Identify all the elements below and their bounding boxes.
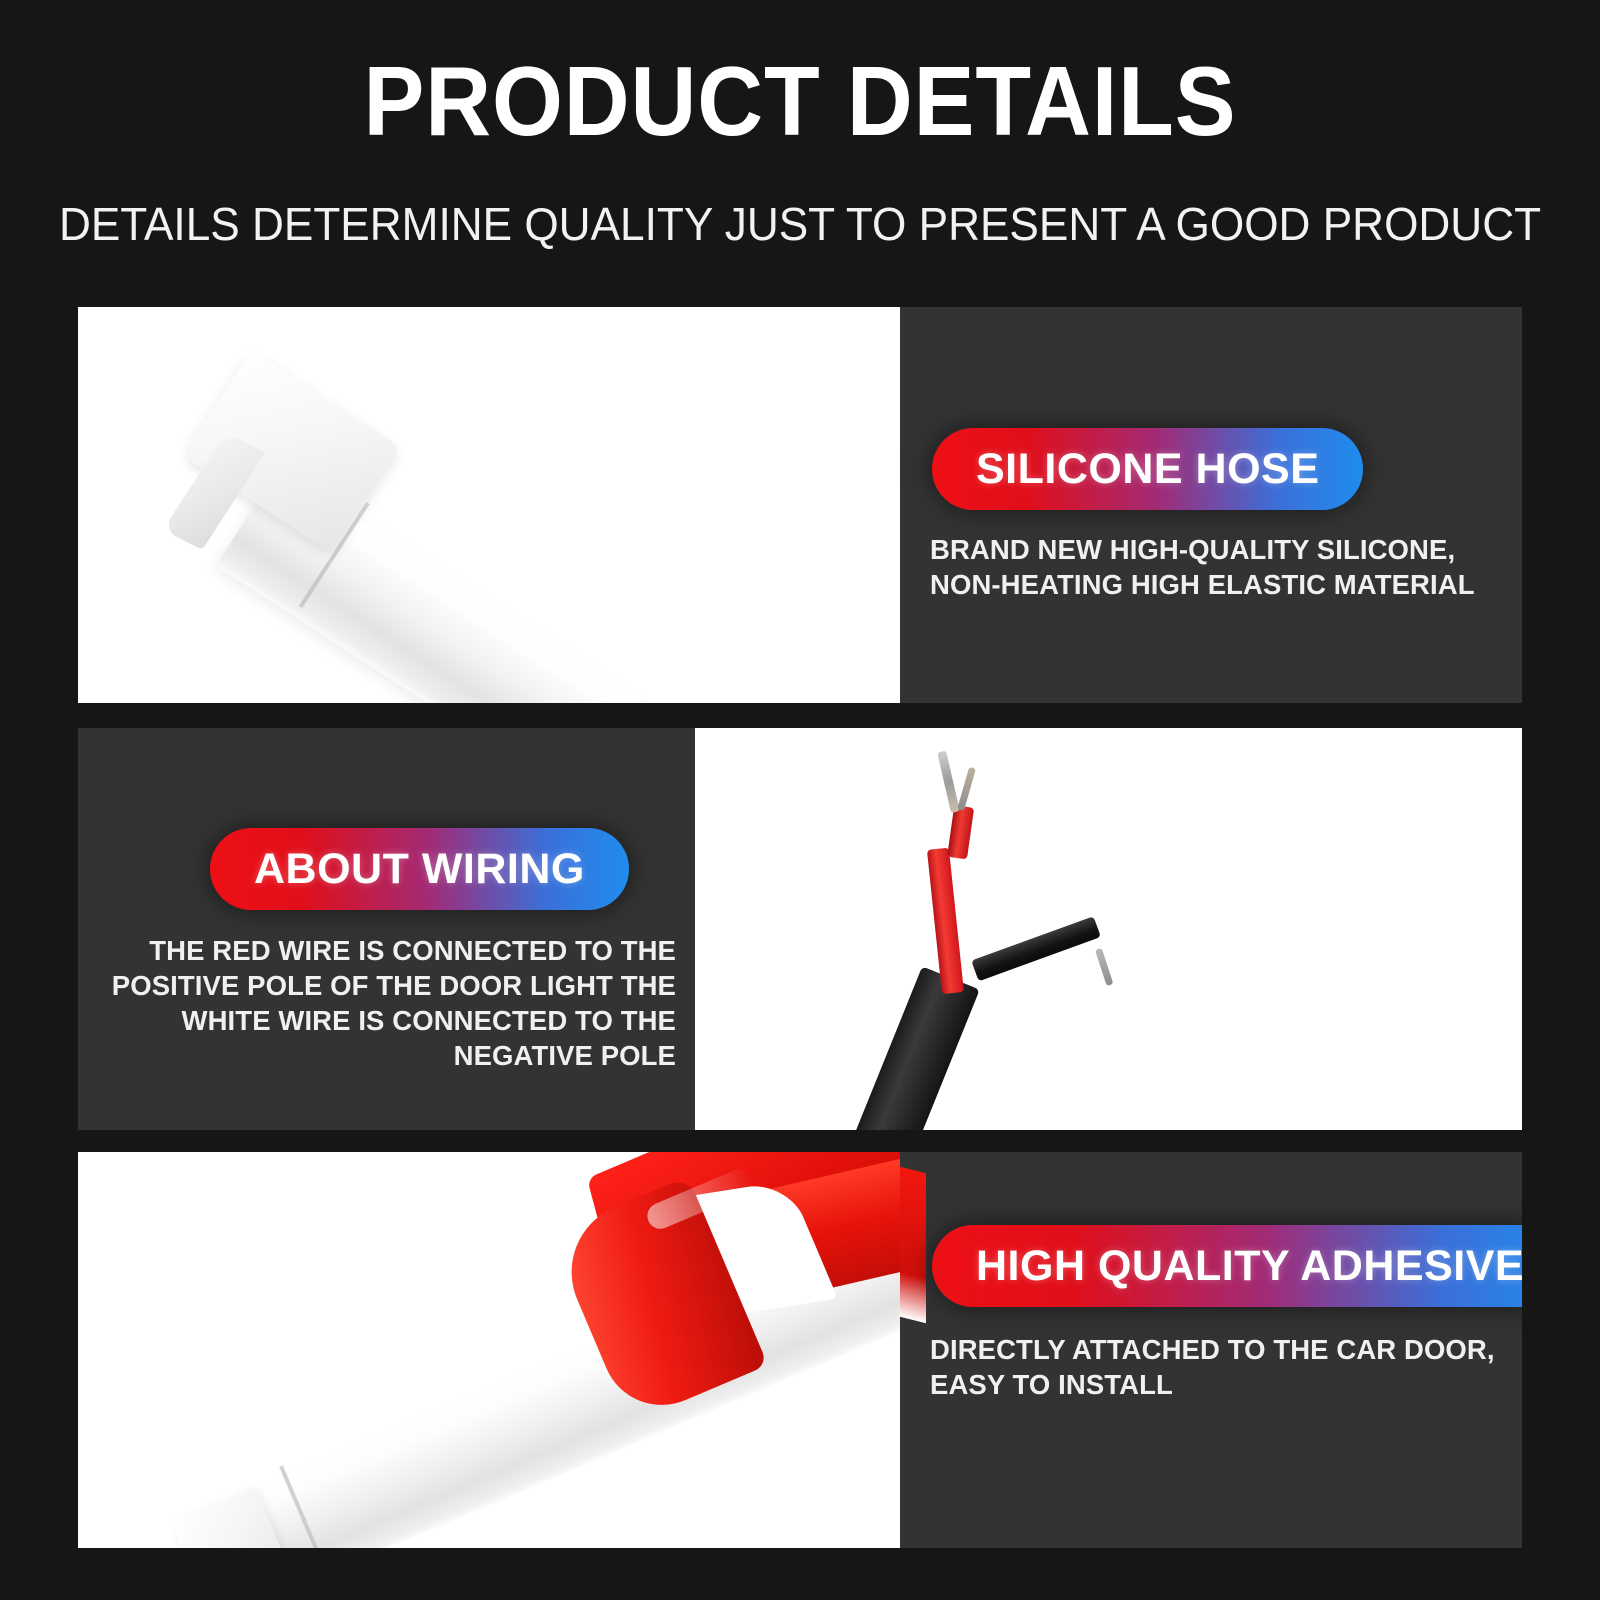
feature-text-high-quality-adhesive: HIGH QUALITY ADHESIVE DIRECTLY ATTACHED … <box>900 1152 1522 1548</box>
silicone-hose-illustration <box>78 307 900 703</box>
badge-label: HIGH QUALITY ADHESIVE <box>976 1225 1522 1307</box>
badge-label: SILICONE HOSE <box>976 428 1319 510</box>
product-details-page: PRODUCT DETAILS DETAILS DETERMINE QUALIT… <box>0 0 1600 1600</box>
feature-panel-about-wiring: ABOUT WIRING THE RED WIRE IS CONNECTED T… <box>78 728 1522 1130</box>
wire-red-upper-shape <box>947 805 974 859</box>
badge-silicone-hose: SILICONE HOSE <box>932 428 1363 510</box>
wire-copper-strand-top <box>937 751 960 813</box>
product-photo-wiring <box>695 728 1522 1130</box>
feature-panel-high-quality-adhesive: HIGH QUALITY ADHESIVE DIRECTLY ATTACHED … <box>78 1152 1522 1548</box>
feature-panel-silicone-hose: SILICONE HOSE BRAND NEW HIGH-QUALITY SIL… <box>78 307 1522 703</box>
feature-description: THE RED WIRE IS CONNECTED TO THE POSITIV… <box>88 933 676 1073</box>
feature-text-about-wiring: ABOUT WIRING THE RED WIRE IS CONNECTED T… <box>78 728 695 1130</box>
wire-illustration <box>695 728 1522 1130</box>
wire-copper-strand-side <box>1095 948 1113 986</box>
adhesive-illustration <box>78 1152 900 1548</box>
badge-high-quality-adhesive: HIGH QUALITY ADHESIVE <box>932 1225 1522 1307</box>
badge-label: ABOUT WIRING <box>254 828 585 910</box>
wire-copper-strand-top-2 <box>957 767 976 811</box>
badge-about-wiring: ABOUT WIRING <box>210 828 629 910</box>
page-header: PRODUCT DETAILS DETAILS DETERMINE QUALIT… <box>0 0 1600 300</box>
wire-black-branch-shape <box>971 916 1101 981</box>
page-title: PRODUCT DETAILS <box>56 46 1544 156</box>
feature-description: BRAND NEW HIGH-QUALITY SILICONE, NON-HEA… <box>930 532 1510 602</box>
page-subtitle: DETAILS DETERMINE QUALITY JUST TO PRESEN… <box>32 196 1568 252</box>
feature-text-silicone-hose: SILICONE HOSE BRAND NEW HIGH-QUALITY SIL… <box>900 307 1522 703</box>
product-photo-silicone-hose <box>78 307 900 703</box>
product-photo-adhesive <box>78 1152 900 1548</box>
adhesive-tape-overflow <box>900 1167 926 1323</box>
feature-description: DIRECTLY ATTACHED TO THE CAR DOOR, EASY … <box>930 1332 1510 1402</box>
